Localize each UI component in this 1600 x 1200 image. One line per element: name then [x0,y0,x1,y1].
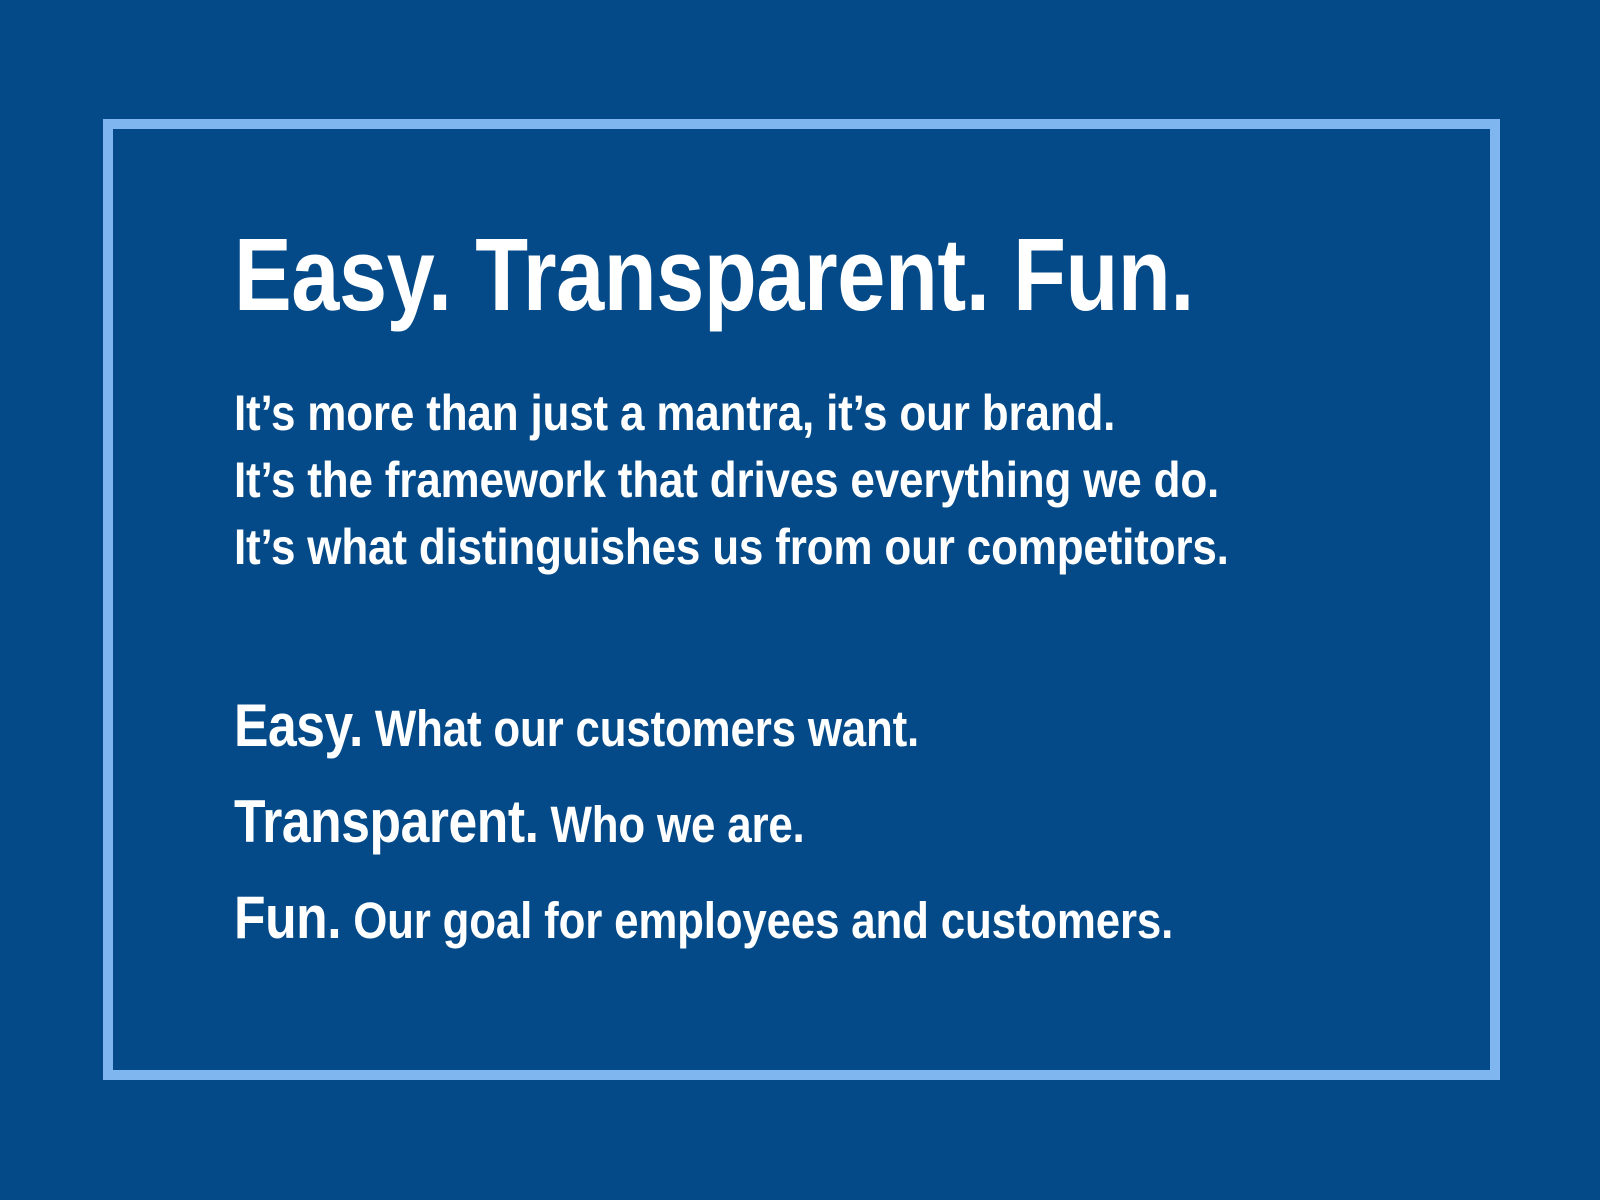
definition-description: Our goal for employees and customers. [341,892,1173,949]
definition-term: Easy. [234,692,363,759]
intro-line-3: It’s what distinguishes us from our comp… [234,514,1228,581]
definition-term: Transparent. [234,788,539,855]
intro-line-2: It’s the framework that drives everythin… [234,447,1228,514]
page-title: Easy. Transparent. Fun. [234,221,1183,328]
definitions-list: Easy. What our customers want. Transpare… [234,581,1364,974]
definition-description: What our customers want. [363,700,919,757]
intro-line-1: It’s more than just a mantra, it’s our b… [234,380,1228,447]
definition-item-easy: Easy. What our customers want. [234,686,1206,782]
definition-description: Who we are. [539,796,805,853]
definition-term: Fun. [234,884,341,951]
intro-paragraph: It’s more than just a mantra, it’s our b… [234,328,1364,581]
slide-canvas: Easy. Transparent. Fun. It’s more than j… [0,0,1600,1200]
definition-item-transparent: Transparent. Who we are. [234,782,1206,878]
definition-item-fun: Fun. Our goal for employees and customer… [234,878,1206,974]
slide-content: Easy. Transparent. Fun. It’s more than j… [234,221,1364,974]
